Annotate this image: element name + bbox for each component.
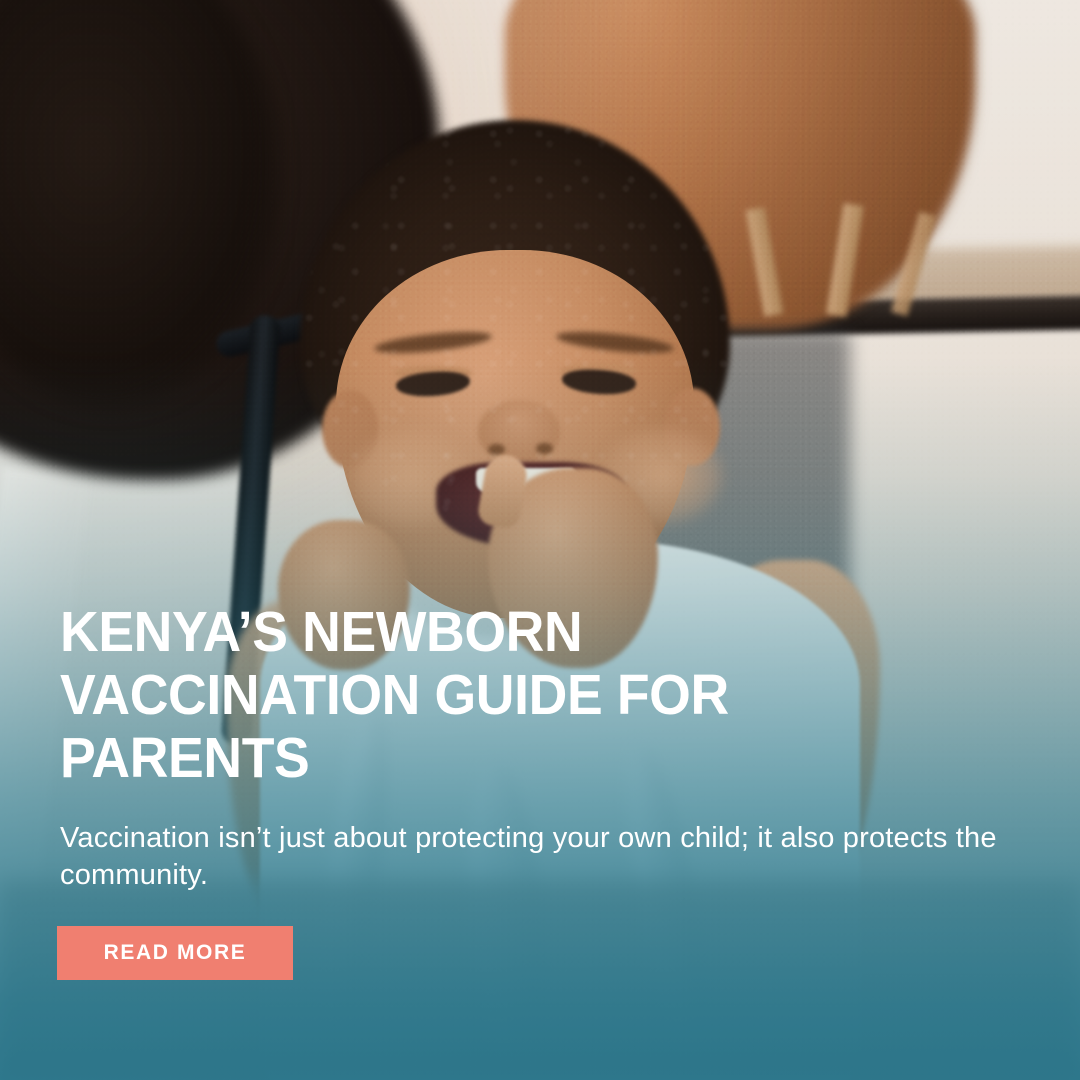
- social-post-canvas: Kenya’s Newborn Vaccination Guide for Pa…: [0, 0, 1080, 1080]
- read-more-button[interactable]: Read More: [57, 926, 293, 980]
- page-title: Kenya’s Newborn Vaccination Guide for Pa…: [60, 601, 803, 790]
- subtitle-text: Vaccination isn’t just about protecting …: [60, 820, 1000, 894]
- content-layer: Kenya’s Newborn Vaccination Guide for Pa…: [0, 0, 1080, 1080]
